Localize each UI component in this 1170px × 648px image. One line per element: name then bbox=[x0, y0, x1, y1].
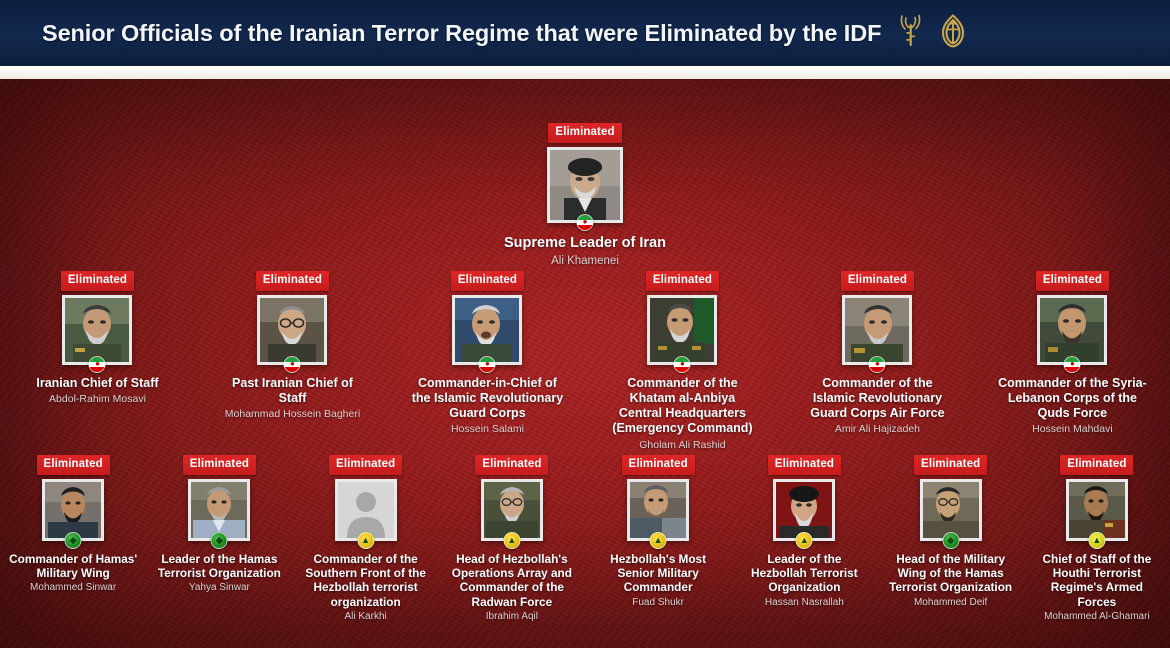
portrait-wrap: ● bbox=[257, 295, 327, 365]
badge-emblem-icon: ● bbox=[870, 357, 885, 372]
caption: Commander-in-Chief of the Islamic Revolu… bbox=[411, 376, 563, 437]
portrait-wrap: ● bbox=[452, 295, 522, 365]
page-title: Senior Officials of the Iranian Terror R… bbox=[42, 20, 881, 47]
role-label: Commander-in-Chief of the Islamic Revolu… bbox=[411, 376, 563, 422]
portrait-wrap: ● bbox=[547, 147, 623, 223]
person-name: Yahya Sinwar bbox=[153, 582, 285, 595]
hamas-badge: ◆ bbox=[65, 532, 82, 549]
row-iranian-military: Eliminated bbox=[0, 271, 1170, 452]
person-name: Amir Ali Hajizadeh bbox=[801, 423, 953, 436]
role-label: Head of Hezbollah's Operations Array and… bbox=[446, 552, 578, 610]
person-name: Hossein Salami bbox=[411, 423, 563, 436]
role-label: Leader of the Hamas Terrorist Organizati… bbox=[153, 552, 285, 581]
official-card-al-ghamari[interactable]: Eliminated bbox=[1024, 455, 1170, 624]
official-card-mohammed-deif[interactable]: Eliminated bbox=[878, 455, 1024, 624]
hezbollah-badge: ▲ bbox=[650, 532, 667, 549]
status-badge: Eliminated bbox=[646, 271, 719, 291]
portrait-wrap: ▲ bbox=[481, 479, 543, 541]
role-label: Head of the Military Wing of the Hamas T… bbox=[885, 552, 1017, 595]
official-card-ibrahim-aqil[interactable]: Eliminated bbox=[439, 455, 585, 624]
officials-board: Eliminated bbox=[0, 79, 1170, 648]
person-name: Ibrahim Aqil bbox=[446, 611, 578, 624]
caption: Commander of the Syria-Lebanon Corps of … bbox=[996, 376, 1148, 437]
badge-emblem-icon: ▲ bbox=[358, 533, 373, 548]
official-card-ali-karkhi[interactable]: Eliminated ▲ Commander of the Southe bbox=[293, 455, 439, 624]
status-badge: Eliminated bbox=[768, 455, 841, 475]
status-badge: Eliminated bbox=[1060, 455, 1133, 475]
role-label: Supreme Leader of Iran bbox=[470, 235, 700, 253]
role-label: Commander of the Southern Front of the H… bbox=[300, 552, 432, 610]
caption: Supreme Leader of Iran Ali Khamenei bbox=[470, 235, 700, 269]
caption: Commander of the Southern Front of the H… bbox=[300, 552, 432, 624]
role-label: Commander of the Syria-Lebanon Corps of … bbox=[996, 376, 1148, 422]
portrait-wrap: ▲ bbox=[1066, 479, 1128, 541]
person-name: Ali Khamenei bbox=[470, 254, 700, 268]
portrait-wrap: ▲ bbox=[773, 479, 835, 541]
caption: Leader of the Hamas Terrorist Organizati… bbox=[153, 552, 285, 595]
badge-emblem-icon: ● bbox=[90, 357, 105, 372]
mahdavi-portrait bbox=[1037, 295, 1107, 365]
caption: Hezbollah's Most Senior Military Command… bbox=[592, 552, 724, 610]
mosavi-portrait bbox=[62, 295, 132, 365]
badge-emblem-icon: ● bbox=[675, 357, 690, 372]
hajizadeh-portrait bbox=[842, 295, 912, 365]
header-icon-group bbox=[897, 13, 970, 54]
hamas-badge: ◆ bbox=[942, 532, 959, 549]
hamas-badge: ◆ bbox=[211, 532, 228, 549]
portrait-wrap: ◆ bbox=[188, 479, 250, 541]
badge-emblem-icon: ◆ bbox=[212, 533, 227, 548]
person-name: Mohammad Hossein Bagheri bbox=[216, 408, 368, 421]
status-badge: Eliminated bbox=[256, 271, 329, 291]
badge-emblem-icon: ▲ bbox=[797, 533, 812, 548]
badge-emblem-icon: ● bbox=[480, 357, 495, 372]
status-badge: Eliminated bbox=[914, 455, 987, 475]
caption: Iranian Chief of Staff Abdol-Rahim Mosav… bbox=[21, 376, 173, 406]
official-card-khamenei[interactable]: Eliminated bbox=[470, 123, 700, 269]
person-name: Ali Karkhi bbox=[300, 611, 432, 624]
portrait-wrap: ▲ bbox=[335, 479, 397, 541]
infographic-page: Senior Officials of the Iranian Terror R… bbox=[0, 0, 1170, 648]
hezbollah-badge: ▲ bbox=[503, 532, 520, 549]
official-card-mahdavi[interactable]: Eliminated bbox=[975, 271, 1170, 452]
person-name: Mohammed Al-Ghamari bbox=[1031, 611, 1163, 624]
badge-emblem-icon: ▲ bbox=[504, 533, 519, 548]
badge-emblem-icon: ▲ bbox=[1089, 533, 1104, 548]
badge-emblem-icon: ◆ bbox=[943, 533, 958, 548]
person-name: Abdol-Rahim Mosavi bbox=[21, 393, 173, 406]
houthi-badge: ▲ bbox=[1088, 532, 1105, 549]
idf-emblem-icon bbox=[936, 13, 970, 54]
hezbollah-badge: ▲ bbox=[796, 532, 813, 549]
role-label: Chief of Staff of the Houthi Terrorist R… bbox=[1031, 552, 1163, 610]
badge-emblem-icon: ● bbox=[578, 215, 593, 230]
status-badge: Eliminated bbox=[37, 455, 110, 475]
role-label: Past Iranian Chief of Staff bbox=[216, 376, 368, 407]
official-card-mosavi[interactable]: Eliminated bbox=[0, 271, 195, 452]
iran-flag-badge: ● bbox=[674, 356, 691, 373]
official-card-yahya-sinwar[interactable]: Eliminated bbox=[146, 455, 292, 624]
bagheri-portrait bbox=[257, 295, 327, 365]
badge-emblem-icon: ● bbox=[1065, 357, 1080, 372]
portrait-wrap: ◆ bbox=[42, 479, 104, 541]
caption: Head of the Military Wing of the Hamas T… bbox=[885, 552, 1017, 610]
status-badge: Eliminated bbox=[475, 455, 548, 475]
row-proxy-leaders: Eliminated bbox=[0, 455, 1170, 624]
role-label: Hezbollah's Most Senior Military Command… bbox=[592, 552, 724, 595]
badge-emblem-icon: ▲ bbox=[651, 533, 666, 548]
caption: Chief of Staff of the Houthi Terrorist R… bbox=[1031, 552, 1163, 624]
hezbollah-badge: ▲ bbox=[357, 532, 374, 549]
official-card-salami[interactable]: Eliminated bbox=[390, 271, 585, 452]
official-card-mohammed-sinwar[interactable]: Eliminated bbox=[0, 455, 146, 624]
khamenei-portrait bbox=[547, 147, 623, 223]
person-name: Hossein Mahdavi bbox=[996, 423, 1148, 436]
page-header: Senior Officials of the Iranian Terror R… bbox=[0, 0, 1170, 66]
status-badge: Eliminated bbox=[1036, 271, 1109, 291]
official-card-bagheri[interactable]: Eliminated bbox=[195, 271, 390, 452]
rashid-portrait bbox=[647, 295, 717, 365]
caption: Leader of the Hezbollah Terrorist Organi… bbox=[738, 552, 870, 610]
caption: Head of Hezbollah's Operations Array and… bbox=[446, 552, 578, 624]
iran-flag-badge: ● bbox=[869, 356, 886, 373]
portrait-wrap: ◆ bbox=[920, 479, 982, 541]
portrait-wrap: ● bbox=[842, 295, 912, 365]
status-badge: Eliminated bbox=[451, 271, 524, 291]
caption: Commander of the Islamic Revolutionary G… bbox=[801, 376, 953, 437]
role-label: Leader of the Hezbollah Terrorist Organi… bbox=[738, 552, 870, 595]
caption: Commander of Hamas' Military Wing Mohamm… bbox=[7, 552, 139, 595]
role-label: Commander of the Khatam al-Anbiya Centra… bbox=[606, 376, 758, 437]
broadcast-antenna-icon bbox=[897, 14, 927, 53]
official-card-hajizadeh[interactable]: Eliminated bbox=[780, 271, 975, 452]
official-card-hassan-nasrallah[interactable]: Eliminated bbox=[731, 455, 877, 624]
caption: Past Iranian Chief of Staff Mohammad Hos… bbox=[216, 376, 368, 422]
official-card-fuad-shukr[interactable]: Eliminated bbox=[585, 455, 731, 624]
iran-flag-badge: ● bbox=[577, 214, 594, 231]
badge-emblem-icon: ● bbox=[285, 357, 300, 372]
badge-emblem-icon: ◆ bbox=[66, 533, 81, 548]
status-badge: Eliminated bbox=[841, 271, 914, 291]
status-badge: Eliminated bbox=[548, 123, 621, 143]
person-name: Mohammed Sinwar bbox=[7, 582, 139, 595]
role-label: Commander of the Islamic Revolutionary G… bbox=[801, 376, 953, 422]
caption: Commander of the Khatam al-Anbiya Centra… bbox=[606, 376, 758, 452]
role-label: Commander of Hamas' Military Wing bbox=[7, 552, 139, 581]
portrait-wrap: ● bbox=[62, 295, 132, 365]
header-separator-bar bbox=[0, 66, 1170, 79]
portrait-wrap: ▲ bbox=[627, 479, 689, 541]
status-badge: Eliminated bbox=[622, 455, 695, 475]
row-supreme-leader: Eliminated bbox=[0, 123, 1170, 269]
iran-flag-badge: ● bbox=[479, 356, 496, 373]
role-label: Iranian Chief of Staff bbox=[21, 376, 173, 391]
iran-flag-badge: ● bbox=[1064, 356, 1081, 373]
portrait-wrap: ● bbox=[647, 295, 717, 365]
status-badge: Eliminated bbox=[329, 455, 402, 475]
person-name: Fuad Shukr bbox=[592, 597, 724, 610]
person-name: Gholam Ali Rashid bbox=[606, 439, 758, 452]
portrait-wrap: ● bbox=[1037, 295, 1107, 365]
status-badge: Eliminated bbox=[183, 455, 256, 475]
official-card-rashid[interactable]: Eliminated bbox=[585, 271, 780, 452]
salami-portrait bbox=[452, 295, 522, 365]
person-name: Mohammed Deif bbox=[885, 597, 1017, 610]
person-name: Hassan Nasrallah bbox=[738, 597, 870, 610]
status-badge: Eliminated bbox=[61, 271, 134, 291]
iran-flag-badge: ● bbox=[284, 356, 301, 373]
iran-flag-badge: ● bbox=[89, 356, 106, 373]
